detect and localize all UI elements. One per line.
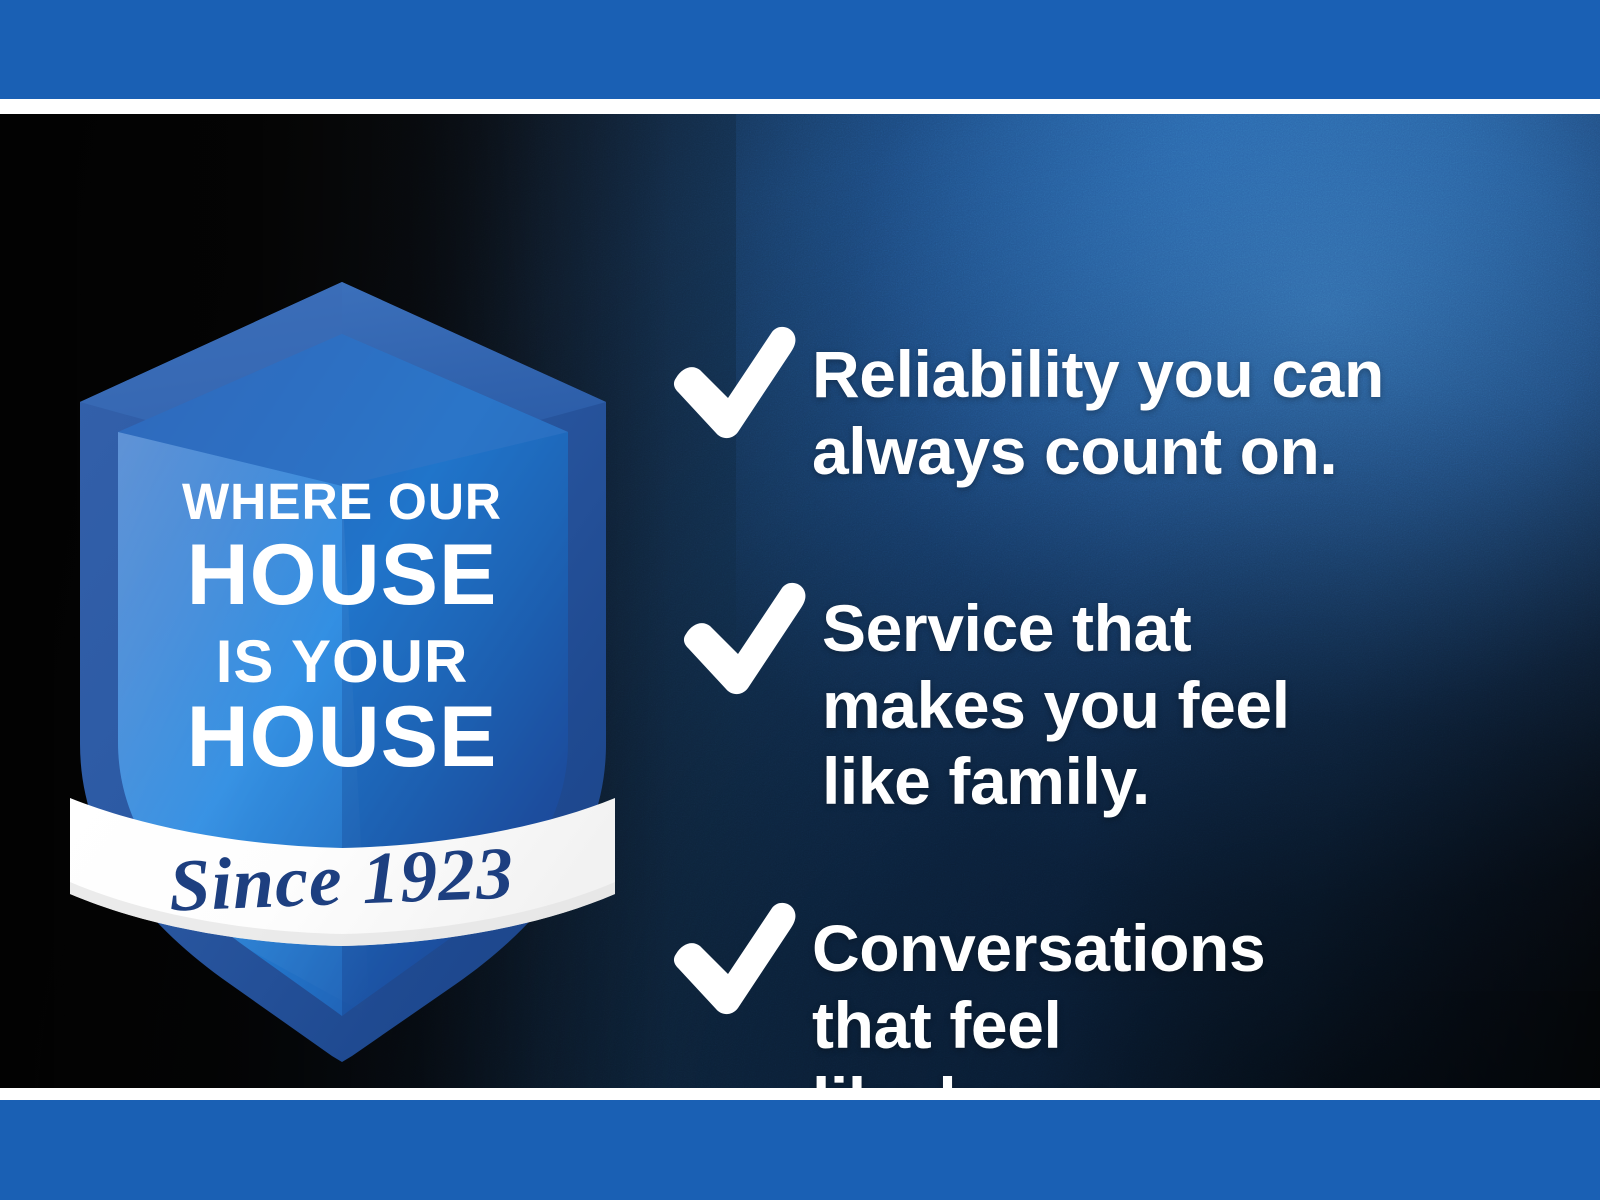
benefit-item-service: Service that makes you feel like family. <box>678 576 1290 820</box>
shield-wordmark: WHERE OUR HOUSE IS YOUR HOUSE <box>182 472 502 785</box>
check-icon <box>678 576 810 696</box>
benefit-text: Conversations that feel like home. <box>812 896 1265 1088</box>
logo-line-1: HOUSE <box>187 527 498 623</box>
poster-canvas: WHERE OUR HOUSE IS YOUR HOUSE Since 1923 <box>0 114 1600 1088</box>
check-icon <box>668 896 800 1016</box>
promo-poster: WHERE OUR HOUSE IS YOUR HOUSE Since 1923 <box>0 0 1600 1200</box>
ribbon-text: Since 1923 <box>168 832 516 927</box>
bottom-brand-bar <box>0 1100 1600 1200</box>
shield-logo: WHERE OUR HOUSE IS YOUR HOUSE Since 1923 <box>70 274 615 1064</box>
top-brand-bar <box>0 0 1600 99</box>
benefit-text: Service that makes you feel like family. <box>822 576 1290 820</box>
benefit-item-conversations: Conversations that feel like home. <box>668 896 1265 1088</box>
logo-line-0: WHERE OUR <box>182 472 502 530</box>
benefit-text: Reliability you can always count on. <box>812 320 1384 489</box>
logo-line-3: HOUSE <box>187 689 498 785</box>
logo-ribbon: Since 1923 <box>70 780 615 946</box>
check-icon <box>668 320 800 440</box>
logo-line-2: IS YOUR <box>216 628 469 695</box>
benefit-item-reliability: Reliability you can always count on. <box>668 320 1384 489</box>
